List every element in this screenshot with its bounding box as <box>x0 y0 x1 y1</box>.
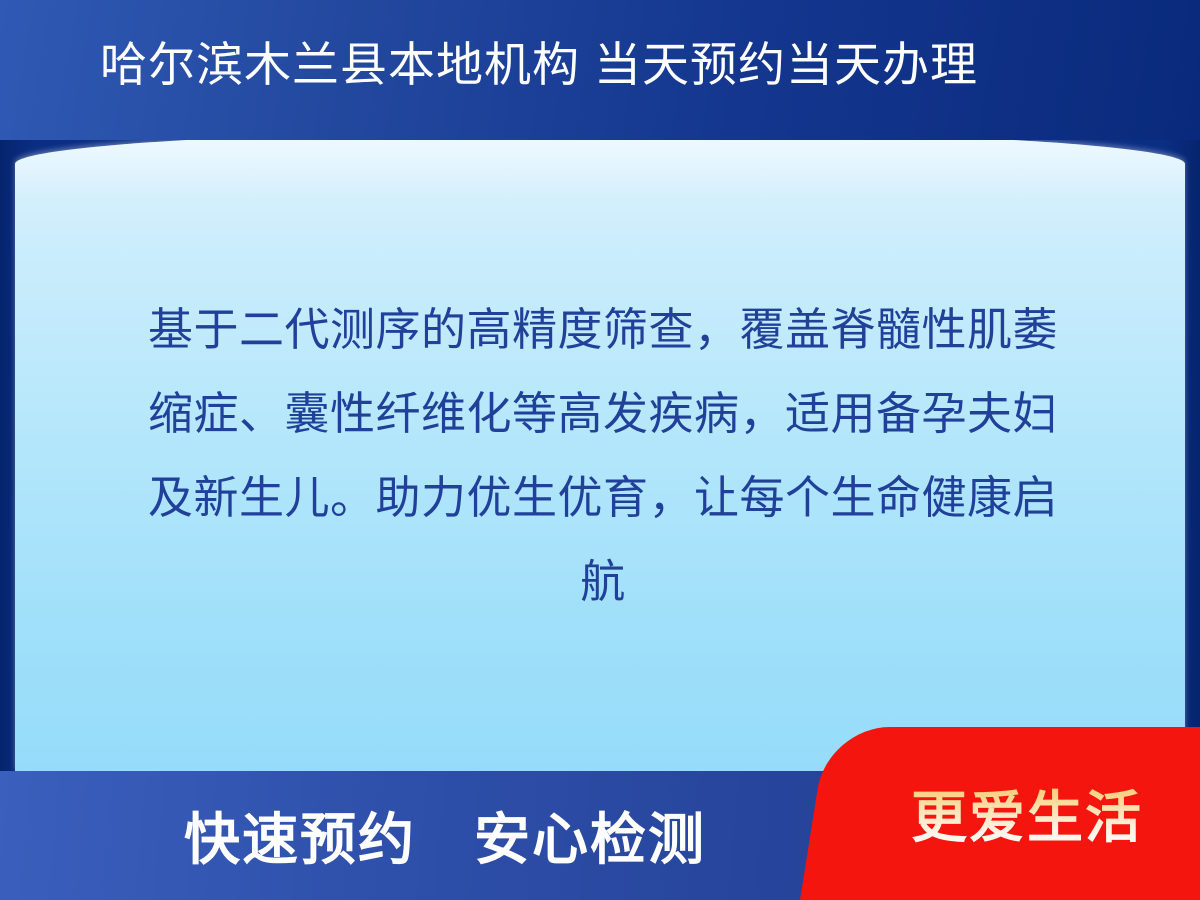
page-title: 哈尔滨木兰县本地机构 当天预约当天办理 <box>100 34 978 96</box>
footer-slogan: 快速预约 安心检测 <box>0 771 880 900</box>
header-band: 哈尔滨木兰县本地机构 当天预约当天办理 <box>0 0 1200 140</box>
promo-poster: 哈尔滨木兰县本地机构 当天预约当天办理 基于二代测序的高精度筛查，覆盖脊髓性肌萎… <box>0 0 1200 900</box>
card-body-text: 基于二代测序的高精度筛查，覆盖脊髓性肌萎缩症、囊性纤维化等高发疾病，适用备孕夫妇… <box>128 288 1078 624</box>
footer-badge-label: 更爱生活 <box>911 773 1143 854</box>
footer-badge-label-wrap: 更爱生活 <box>800 727 1200 900</box>
card-top-sheen <box>15 130 1185 200</box>
